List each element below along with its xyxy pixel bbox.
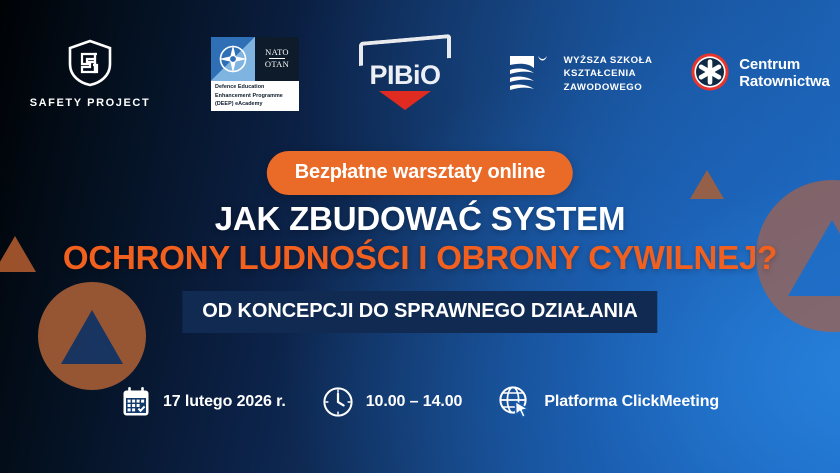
clock-icon: [322, 386, 354, 418]
globe-cursor-icon: [498, 385, 532, 419]
chevron-down-icon: [379, 91, 431, 110]
wskz-line-1: WYŻSZA SZKOŁA: [564, 54, 653, 68]
nato-caption-line-1: Defence Education: [215, 83, 296, 91]
shield-monogram-icon: [67, 39, 113, 92]
logo-centrum-ratownictwa: Centrum Ratownictwa: [680, 52, 840, 97]
promo-banner: SAFETY PROJECT NATO OTAN: [0, 0, 840, 473]
page-title: JAK ZBUDOWAĆ SYSTEM OCHRONY LUDNOŚCI I O…: [0, 200, 840, 277]
headline-line-1: JAK ZBUDOWAĆ SYSTEM: [0, 200, 840, 239]
nato-deep-caption: Defence Education Enhancement Programme …: [211, 81, 299, 112]
decorative-triangle-right: [690, 170, 724, 199]
wskz-line-3: ZAWODOWEGO: [564, 81, 653, 95]
logo-pibio-label: PIBiO: [369, 60, 440, 91]
event-time-value: 10.00 – 14.00: [366, 393, 463, 411]
logo-nato-deep: NATO OTAN Defence Education Enhancement …: [180, 37, 330, 112]
event-date-value: 17 lutego 2026 r.: [163, 393, 286, 411]
subtitle-bar: OD KONCEPCJI DO SPRAWNEGO DZIAŁANIA: [182, 291, 657, 333]
centrum-line-1: Centrum: [739, 57, 830, 74]
partner-logo-row: SAFETY PROJECT NATO OTAN: [0, 30, 840, 118]
event-platform: Platforma ClickMeeting: [498, 385, 719, 419]
logo-wskz-label: WYŻSZA SZKOŁA KSZTAŁCENIA ZAWODOWEGO: [564, 54, 653, 95]
event-time: 10.00 – 14.00: [322, 386, 463, 418]
nato-label-otan: OTAN: [265, 60, 289, 69]
open-book-bird-icon: [508, 52, 555, 96]
free-workshop-badge: Bezpłatne warsztaty online: [267, 151, 573, 195]
logo-centrum-label: Centrum Ratownictwa: [739, 57, 830, 91]
nato-label-nato: NATO: [265, 48, 289, 57]
event-date: 17 lutego 2026 r.: [121, 386, 286, 418]
event-details-row: 17 lutego 2026 r. 10.00 – 14.00: [0, 378, 840, 426]
calendar-icon: [121, 386, 151, 418]
logo-wskz: WYŻSZA SZKOŁA KSZTAŁCENIA ZAWODOWEGO: [480, 52, 680, 96]
nato-caption-line-2: Enhancement Programme: [215, 92, 296, 100]
event-platform-value: Platforma ClickMeeting: [544, 393, 719, 411]
logo-pibio: PIBiO: [330, 38, 480, 110]
nato-compass-star-icon: [211, 37, 255, 81]
wskz-line-2: KSZTAŁCENIA: [564, 67, 653, 81]
logo-safety-project-label: SAFETY PROJECT: [30, 97, 151, 109]
centrum-line-2: Ratownictwa: [739, 74, 830, 91]
triangle-shape: [61, 310, 123, 364]
star-of-life-icon: [690, 52, 730, 97]
logo-safety-project: SAFETY PROJECT: [0, 39, 180, 109]
headline-line-2: OCHRONY LUDNOŚCI I OBRONY CYWILNEJ?: [0, 239, 840, 278]
civil-defence-symbol-left: [38, 282, 146, 390]
nato-caption-line-3: (DEEP) eAcademy: [215, 100, 296, 108]
